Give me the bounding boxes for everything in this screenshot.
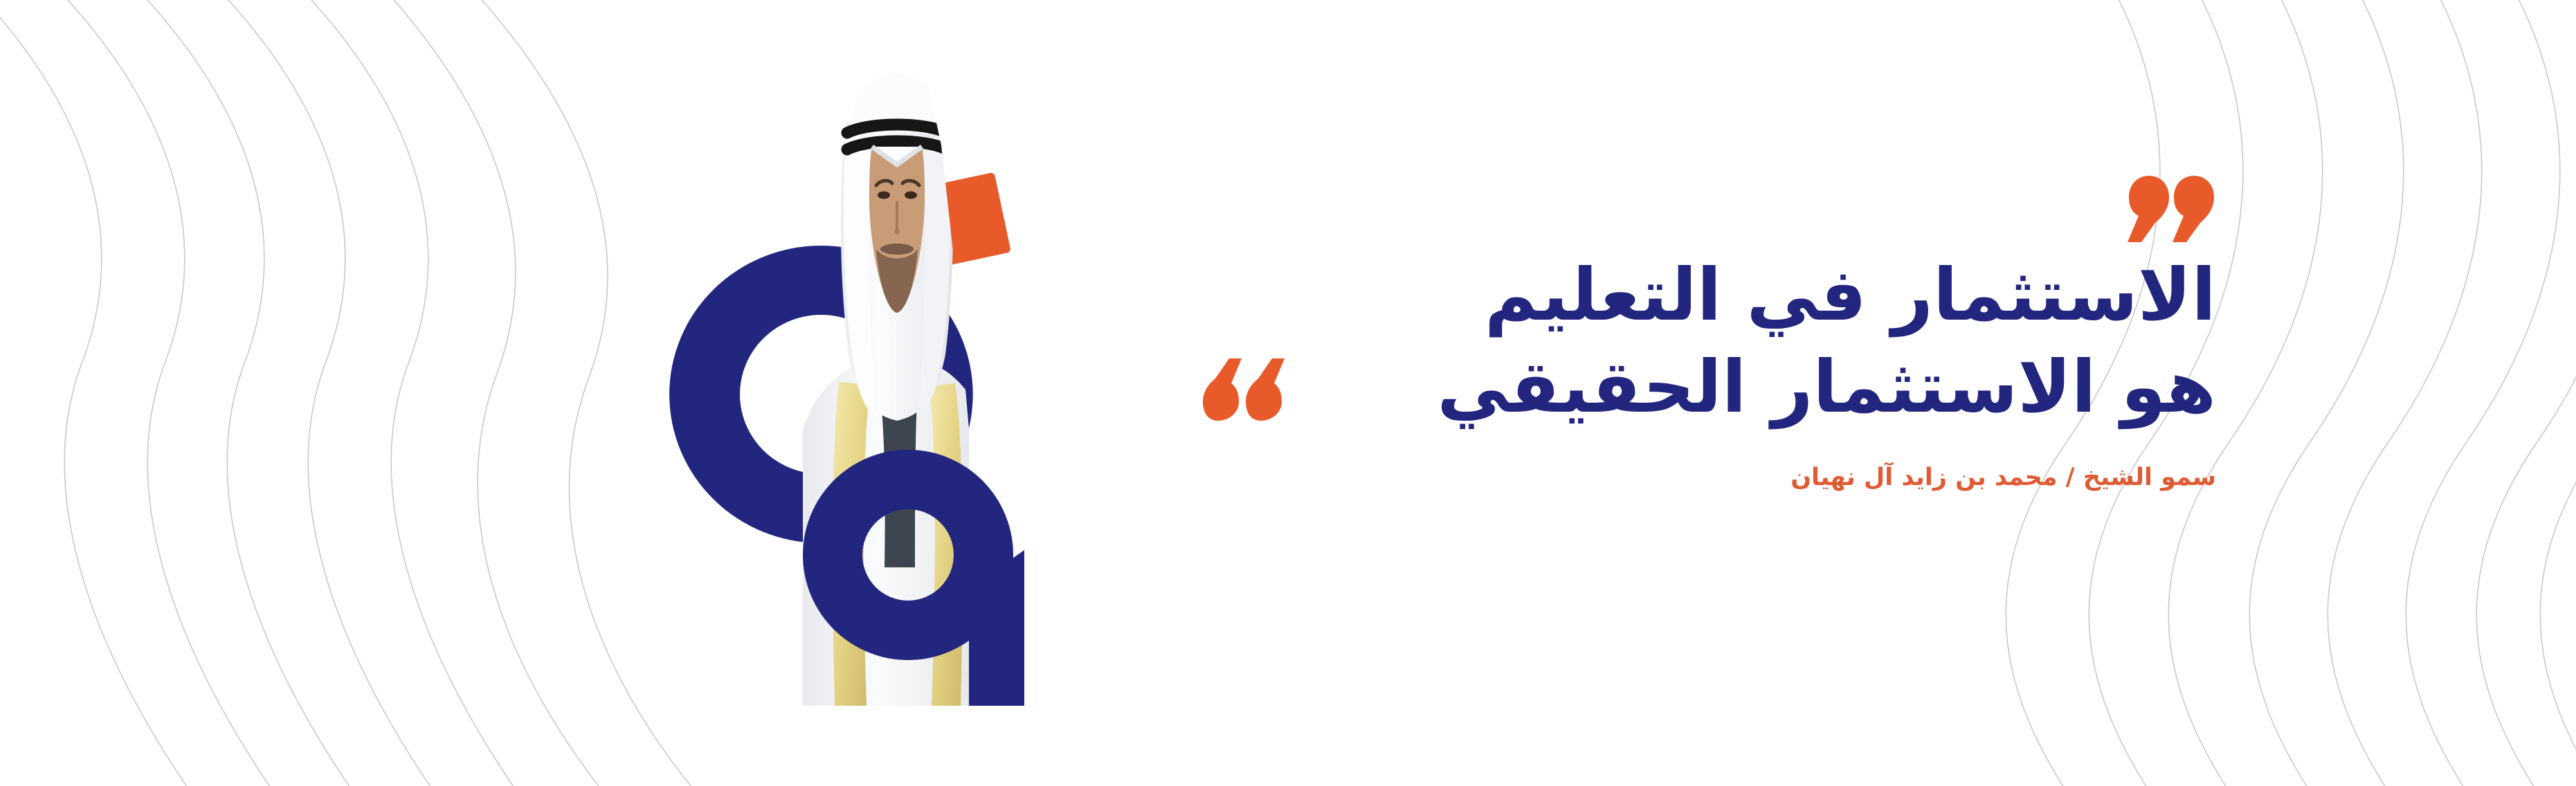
quote-banner: الاستثمار في التعليم هو الاستثمار الحقيق… — [0, 0, 2576, 786]
quote-text: الاستثمار في التعليم هو الاستثمار الحقيق… — [1303, 249, 2216, 433]
quote-line-2: هو الاستثمار الحقيقي — [1303, 341, 2216, 433]
q-monogram — [595, 42, 1121, 740]
quote-mark-open-icon — [1203, 357, 1285, 423]
quote-block: الاستثمار في التعليم هو الاستثمار الحقيق… — [1303, 173, 2216, 494]
quote-mark-close-icon — [2126, 173, 2216, 245]
brand-mark-cluster — [595, 42, 1121, 740]
quote-attribution: سمو الشيخ / محمد بن زايد آل نهيان — [1303, 462, 2216, 494]
quote-line-1: الاستثمار في التعليم — [1303, 249, 2216, 341]
quote-line-2-text: هو الاستثمار الحقيقي — [1437, 345, 2216, 429]
